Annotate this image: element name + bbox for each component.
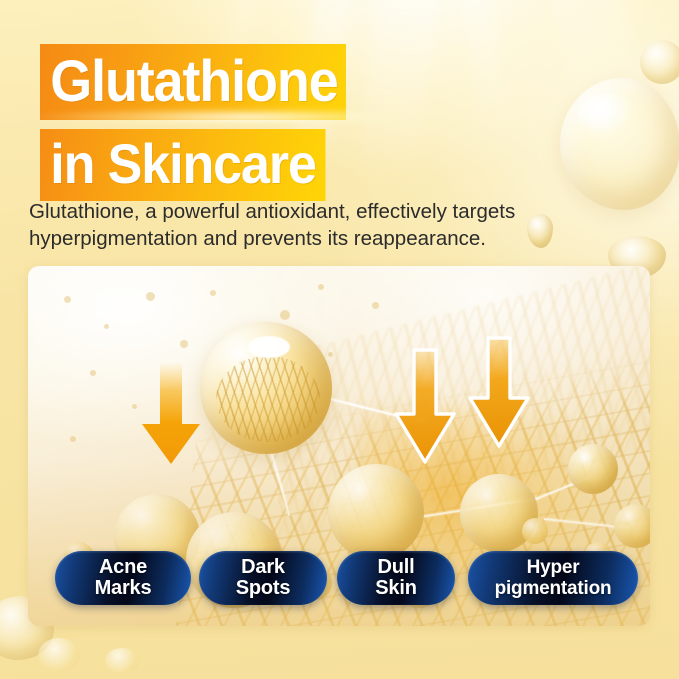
benefit-pill-label: Dull Skin — [375, 557, 416, 599]
benefit-pill-label: Hyper pigmentation — [495, 557, 612, 599]
benefit-pill-dull-skin[interactable]: Dull Skin — [337, 551, 455, 605]
benefit-pill-label: Dark Spots — [236, 557, 291, 599]
subtitle-text: Glutathione, a powerful antioxidant, eff… — [29, 198, 589, 252]
molecule-bubble-large — [200, 322, 332, 454]
droplet-small-icon — [105, 648, 139, 674]
title-line-2: in Skincare — [40, 129, 325, 201]
benefit-pill-hyperpigmentation[interactable]: Hyper pigmentation — [468, 551, 638, 605]
infographic-stage: Glutathione in Skincare Glutathione, a p… — [0, 0, 679, 679]
benefit-pill-acne-marks[interactable]: Acne Marks — [55, 551, 191, 605]
title-line-1: Glutathione — [40, 44, 346, 120]
droplet-small-icon — [38, 638, 80, 672]
benefit-pill-dark-spots[interactable]: Dark Spots — [199, 551, 327, 605]
benefit-pill-label: Acne Marks — [95, 557, 152, 599]
absorption-arrow-left-icon — [140, 362, 202, 466]
absorption-arrow-right-icon — [466, 336, 532, 450]
absorption-arrow-center-icon — [392, 348, 458, 466]
page-title: Glutathione in Skincare — [40, 44, 679, 201]
